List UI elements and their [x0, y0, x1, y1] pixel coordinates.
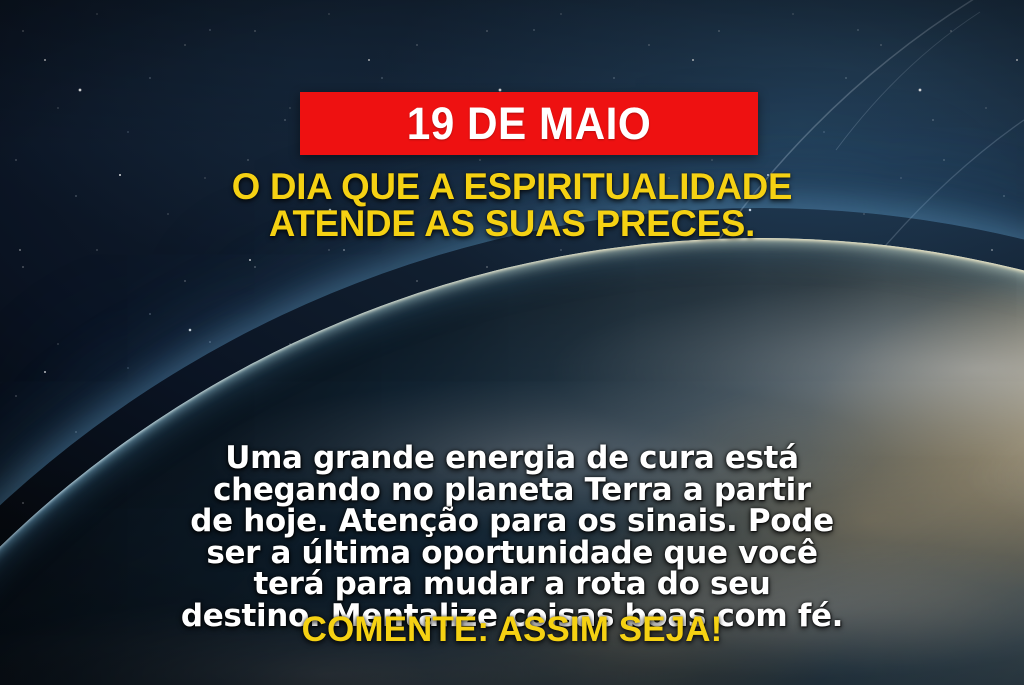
poster-canvas: 19 DE MAIO O DIA QUE A ESPIRITUALIDADE A… — [0, 0, 1024, 685]
body-line-1: Uma grande energia de cura está — [0, 443, 1024, 475]
poster-content: 19 DE MAIO O DIA QUE A ESPIRITUALIDADE A… — [0, 0, 1024, 685]
body-line-2: chegando no planeta Terra a partir — [0, 475, 1024, 507]
date-banner-text: 19 DE MAIO — [407, 101, 651, 146]
headline-line-2: ATENDE AS SUAS PRECES. — [5, 205, 1019, 242]
date-banner: 19 DE MAIO — [300, 92, 758, 155]
headline-line-1: O DIA QUE A ESPIRITUALIDADE — [5, 168, 1019, 205]
body-paragraph: Uma grande energia de cura está chegando… — [0, 443, 1024, 632]
body-line-4: ser a última oportunidade que você — [0, 538, 1024, 570]
call-to-action-text: COMENTE: ASSIM SEJA! — [0, 612, 1024, 647]
body-line-5: terá para mudar a rota do seu — [0, 569, 1024, 601]
body-line-3: de hoje. Atenção para os sinais. Pode — [0, 506, 1024, 538]
headline: O DIA QUE A ESPIRITUALIDADE ATENDE AS SU… — [5, 168, 1019, 242]
